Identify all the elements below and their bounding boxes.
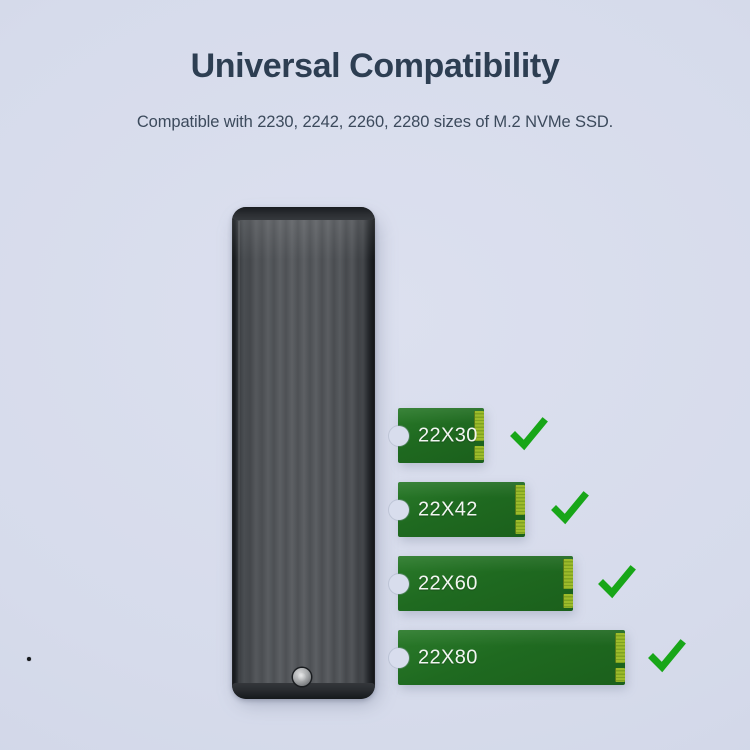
brand-logo-icon — [293, 668, 311, 686]
ssd-connector-pins-secondary — [615, 668, 625, 682]
ssd-connector-pins-secondary — [563, 594, 573, 608]
ssd-module-2242: 22X42 — [398, 482, 525, 537]
enclosure-top-cap — [232, 207, 375, 220]
enclosure-gloss — [232, 220, 375, 260]
enclosure-edge-highlight — [238, 221, 240, 683]
page-title: Universal Compatibility — [0, 48, 750, 85]
checkmark-icon-2242 — [553, 492, 587, 526]
ssd-connector-pins-secondary — [474, 446, 484, 460]
ssd-mount-notch-icon — [389, 500, 409, 520]
ssd-connector-pins — [563, 559, 573, 589]
enclosure-body — [232, 207, 375, 699]
ssd-mount-notch-icon — [389, 648, 409, 668]
product-feature-slide: Universal Compatibility Compatible with … — [0, 0, 750, 750]
checkmark-icon-2280 — [650, 640, 684, 674]
ssd-mount-notch-icon — [389, 574, 409, 594]
ssd-size-label: 22X60 — [418, 572, 478, 595]
ssd-module-2230: 22X30 — [398, 408, 484, 463]
ssd-enclosure-device — [232, 207, 375, 699]
ssd-size-label: 22X42 — [418, 498, 478, 521]
ssd-size-label: 22X30 — [418, 424, 478, 447]
ssd-size-label: 22X80 — [418, 646, 478, 669]
ssd-module-2260: 22X60 — [398, 556, 573, 611]
ssd-connector-pins — [515, 485, 525, 515]
ssd-connector-pins — [615, 633, 625, 663]
ssd-connector-pins-secondary — [515, 520, 525, 534]
ssd-mount-notch-icon — [389, 426, 409, 446]
checkmark-icon-2230 — [512, 418, 546, 452]
page-subtitle: Compatible with 2230, 2242, 2260, 2280 s… — [0, 113, 750, 133]
ssd-module-2280: 22X80 — [398, 630, 625, 685]
checkmark-icon-2260 — [600, 566, 634, 600]
status-led-icon — [27, 657, 31, 661]
